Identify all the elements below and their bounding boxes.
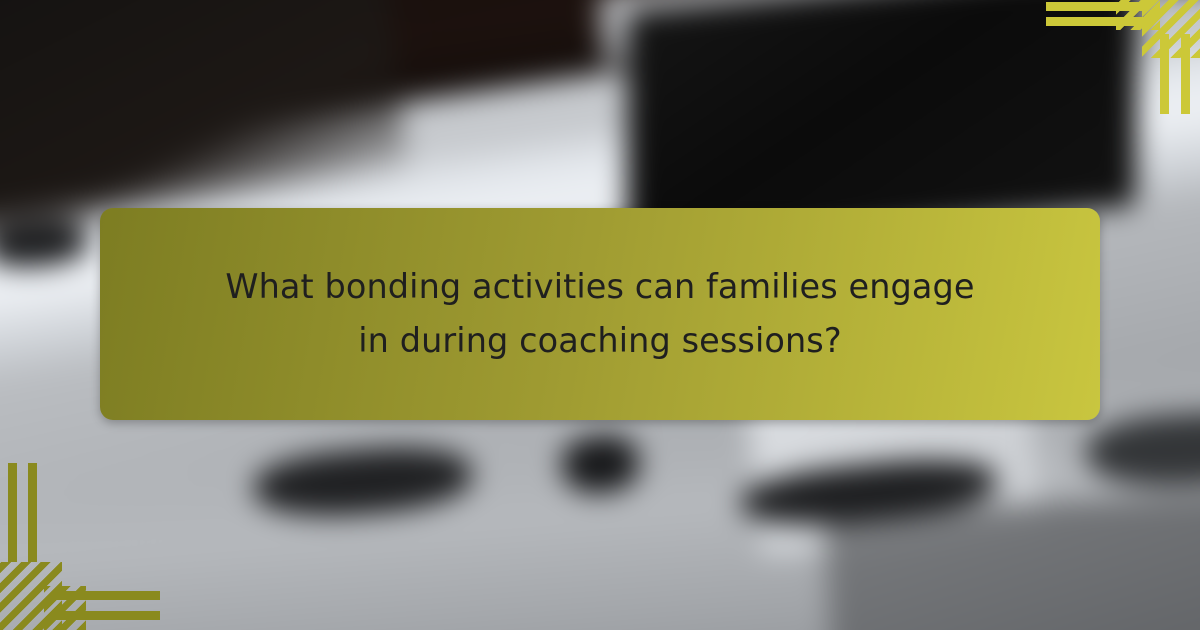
question-card: What bonding activities can families eng… [100,208,1100,420]
question-text: What bonding activities can families eng… [210,260,990,369]
poster-canvas: What bonding activities can families eng… [0,0,1200,630]
